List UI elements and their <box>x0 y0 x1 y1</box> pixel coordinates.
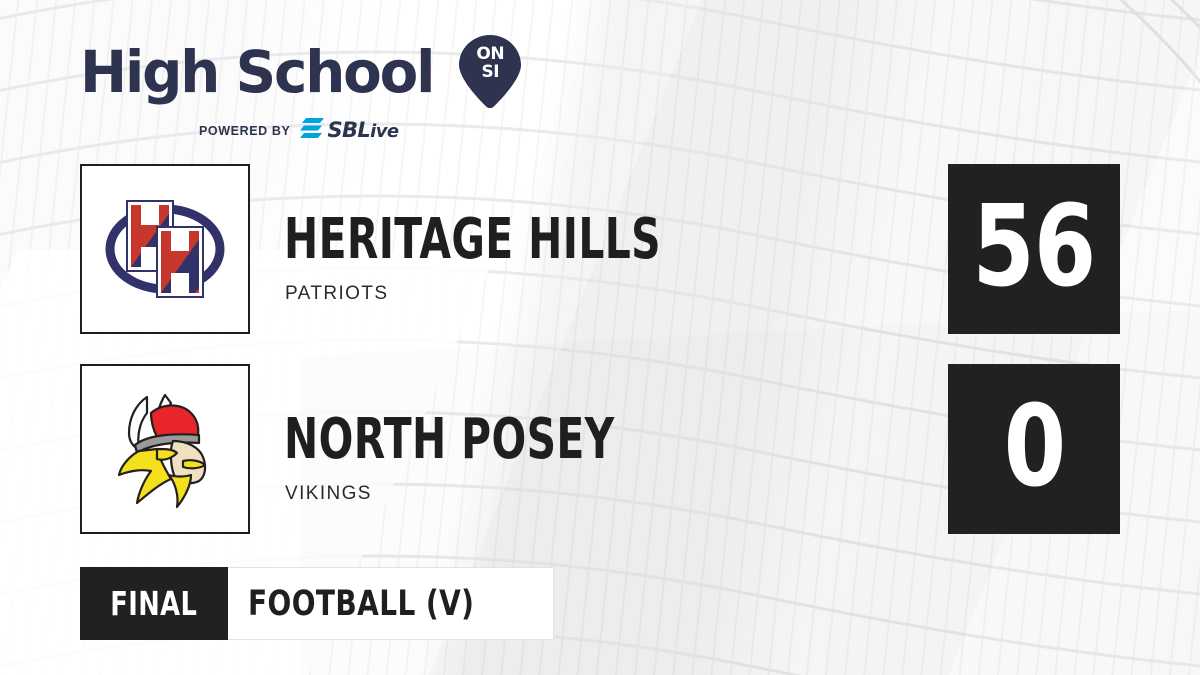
on-si-pin-icon: ON SI <box>458 34 522 108</box>
brand-header: High School ON SI POWERED BY <box>80 36 522 144</box>
game-status-bar: FINAL FOOTBALL (V) <box>80 567 554 640</box>
pin-line-on: ON <box>458 46 522 63</box>
heritage-hills-logo <box>95 179 235 319</box>
brand-lockup: High School ON SI <box>80 36 522 108</box>
status-badge-label: FINAL <box>111 584 198 623</box>
north-posey-vikings-logo <box>95 379 235 519</box>
score-box-2: 0 <box>948 364 1120 534</box>
status-badge: FINAL <box>80 567 228 640</box>
team-name-1: HERITAGE HILLS <box>284 212 661 268</box>
team-mascot-1: PATRIOTS <box>285 284 388 303</box>
team-name-2: NORTH POSEY <box>284 412 615 468</box>
team-logo-box-heritage-hills <box>80 164 250 334</box>
score-value-2: 0 <box>1003 391 1065 503</box>
pin-line-si: SI <box>458 64 522 81</box>
team-mascot-2: VIKINGS <box>285 484 372 503</box>
sblive-s-mark-icon <box>299 117 325 144</box>
sblive-wordmark: SBLive <box>327 120 398 141</box>
team-logo-box-north-posey <box>80 364 250 534</box>
sport-label: FOOTBALL (V) <box>248 584 474 624</box>
scoreboard-graphic: High School ON SI POWERED BY <box>0 0 1200 675</box>
sblive-logo: SBLive <box>299 117 398 144</box>
brand-wordmark: High School <box>80 43 433 101</box>
score-value-1: 56 <box>972 191 1095 303</box>
sport-label-box: FOOTBALL (V) <box>228 567 554 640</box>
powered-by-row: POWERED BY SBLive <box>199 117 522 144</box>
score-box-1: 56 <box>948 164 1120 334</box>
powered-by-label: POWERED BY <box>199 124 290 138</box>
